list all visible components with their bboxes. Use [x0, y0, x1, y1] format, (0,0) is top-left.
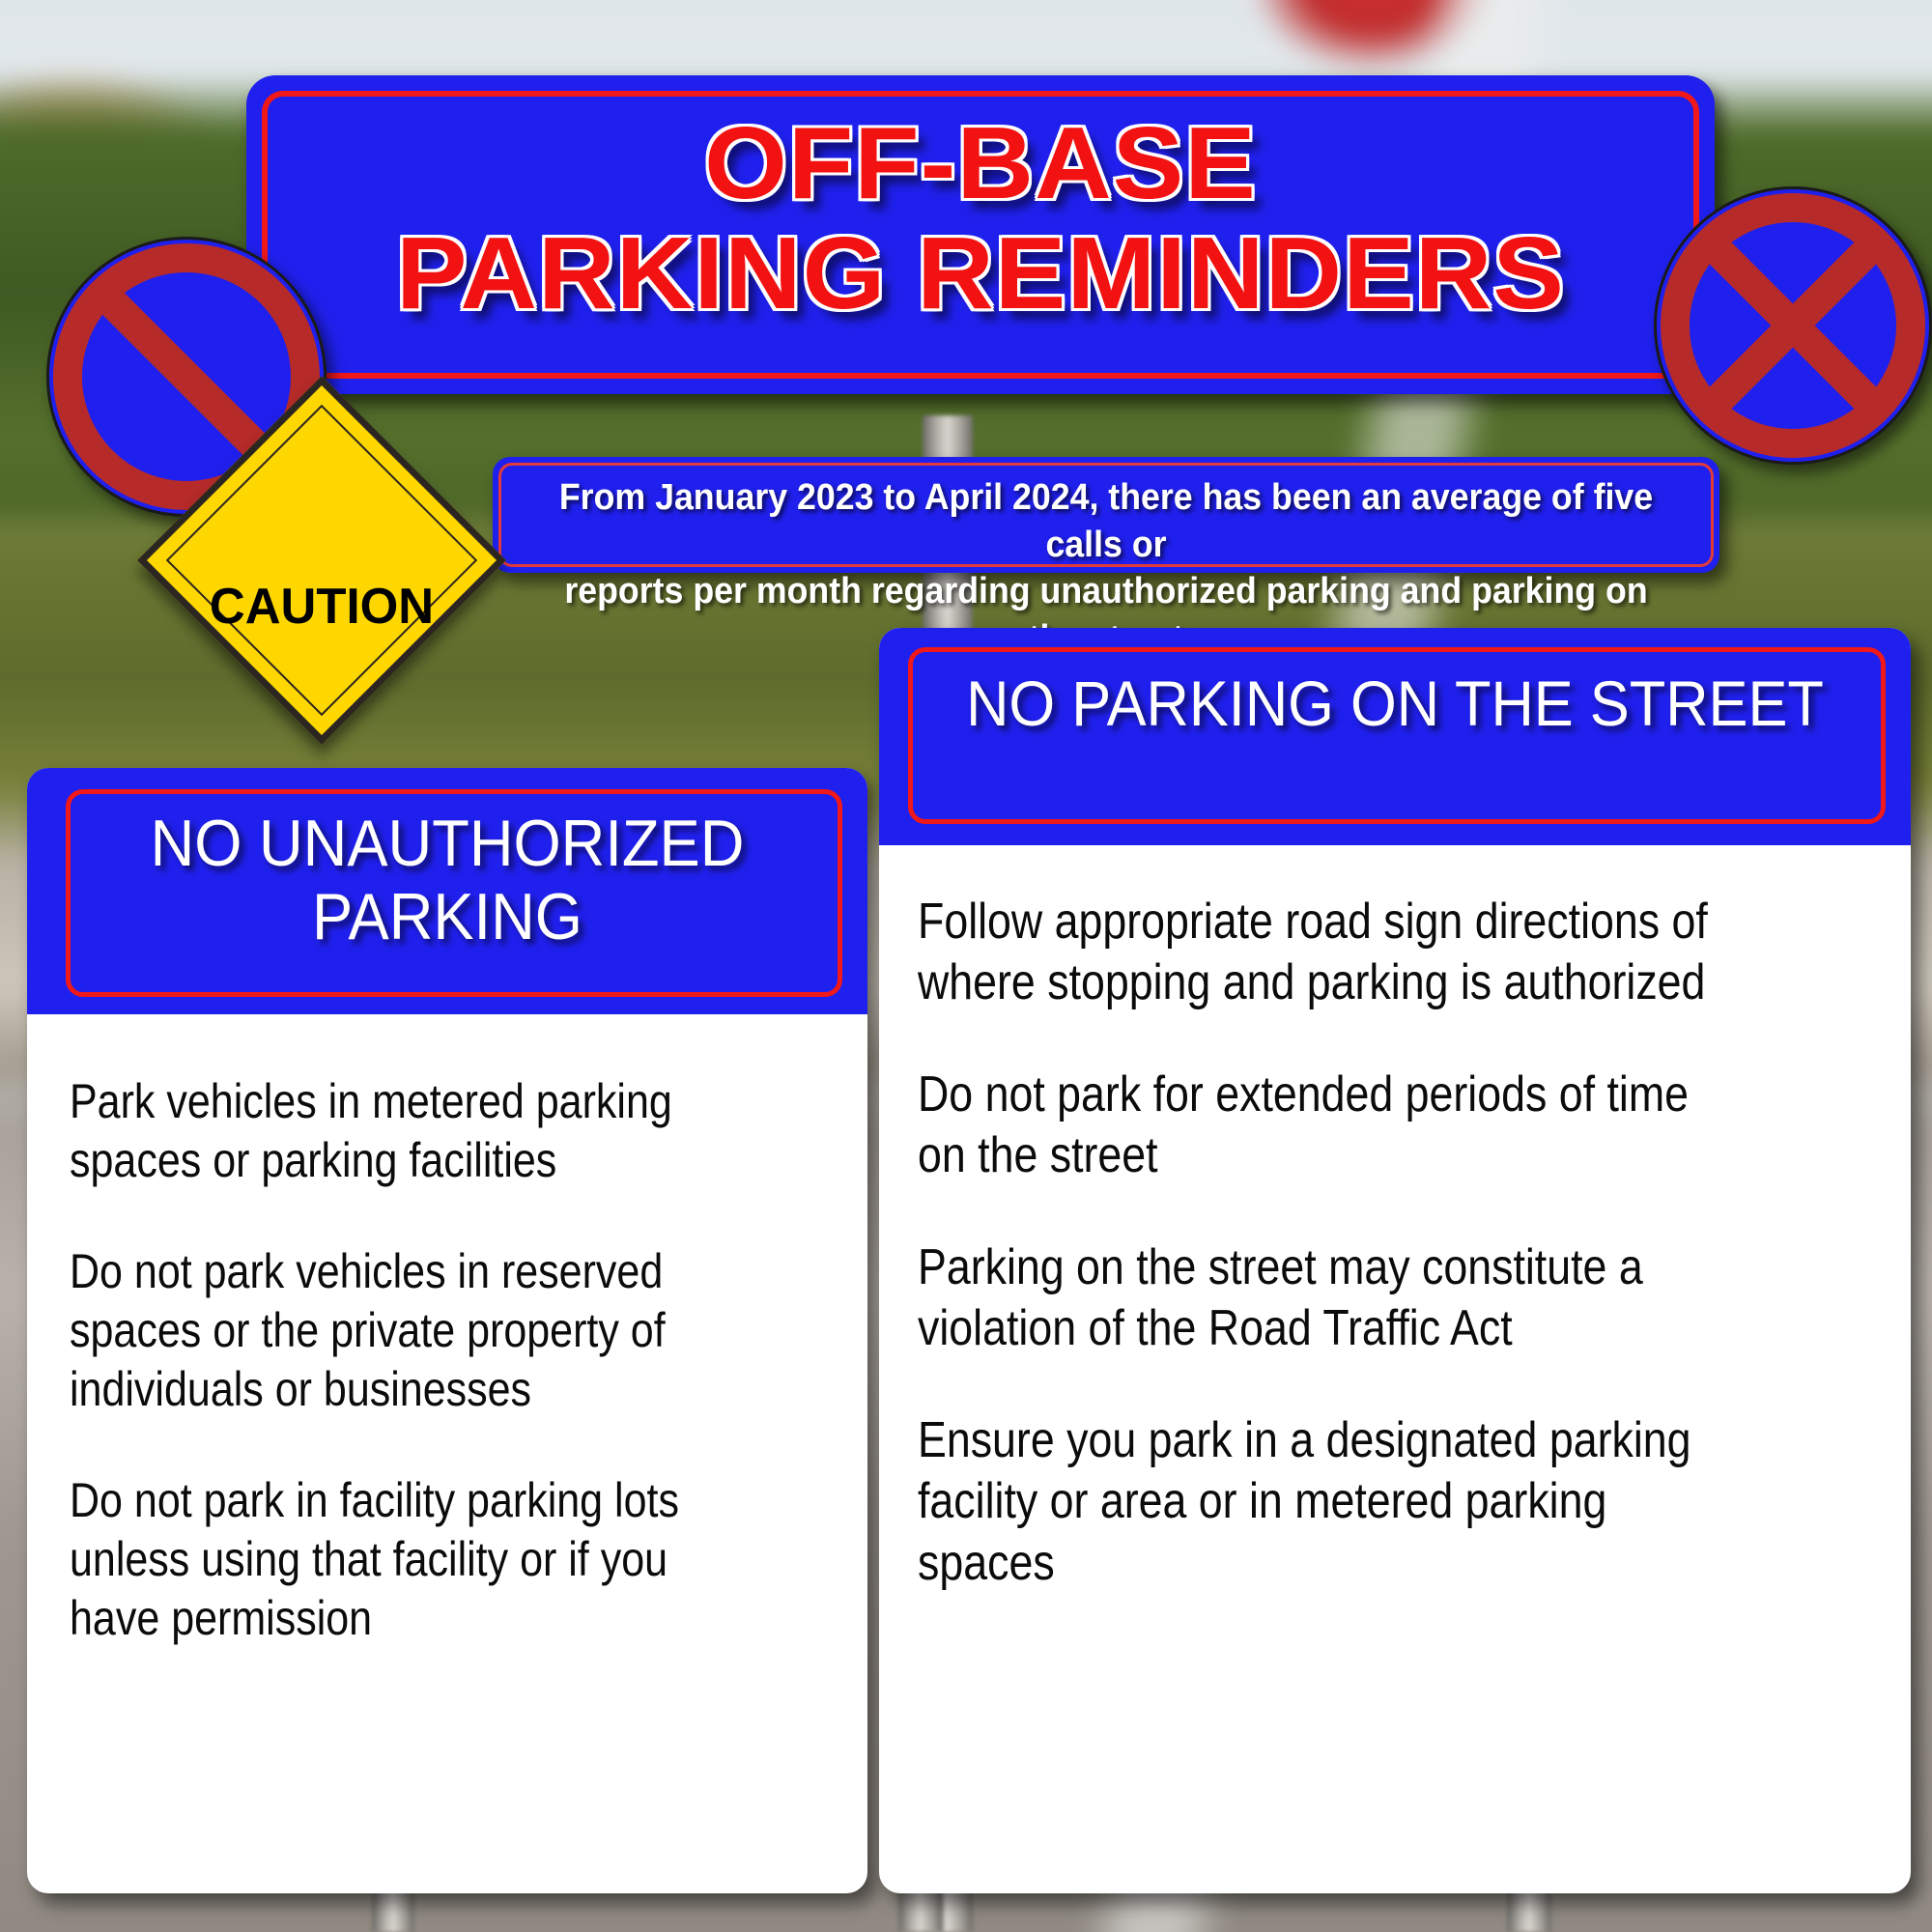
card-header: NO UNAUTHORIZED PARKING — [27, 768, 867, 1014]
list-item: Ensure you park in a designated parking … — [918, 1410, 1744, 1594]
caution-label: CAUTION — [182, 578, 462, 636]
list-item: Parking on the street may constitute a v… — [918, 1237, 1744, 1360]
no-stopping-sign-icon — [1654, 186, 1932, 465]
card-heading: NO PARKING ON THE STREET — [915, 668, 1874, 739]
page-title: OFF-BASE PARKING REMINDERS — [217, 108, 1745, 329]
card-no-unauthorized-parking: NO UNAUTHORIZED PARKING Park vehicles in… — [27, 768, 867, 1893]
title-banner: OFF-BASE PARKING REMINDERS — [246, 75, 1715, 394]
statistic-strip: From January 2023 to April 2024, there h… — [493, 457, 1719, 573]
list-item: Do not park for extended periods of time… — [918, 1065, 1744, 1187]
card-heading: NO UNAUTHORIZED PARKING — [56, 807, 838, 953]
list-item: Follow appropriate road sign directions … — [918, 892, 1744, 1014]
list-item: Do not park in facility parking lots unl… — [70, 1471, 720, 1648]
list-item: Park vehicles in metered parking spaces … — [70, 1072, 720, 1190]
card-body: Follow appropriate road sign directions … — [879, 845, 1911, 1594]
list-item: Do not park vehicles in reserved spaces … — [70, 1242, 720, 1419]
card-no-parking-on-the-street: NO PARKING ON THE STREET Follow appropri… — [879, 628, 1911, 1893]
poster-canvas: OFF-BASE PARKING REMINDERS From January … — [0, 0, 1932, 1932]
card-header: NO PARKING ON THE STREET — [879, 628, 1911, 845]
card-body: Park vehicles in metered parking spaces … — [27, 1014, 867, 1648]
